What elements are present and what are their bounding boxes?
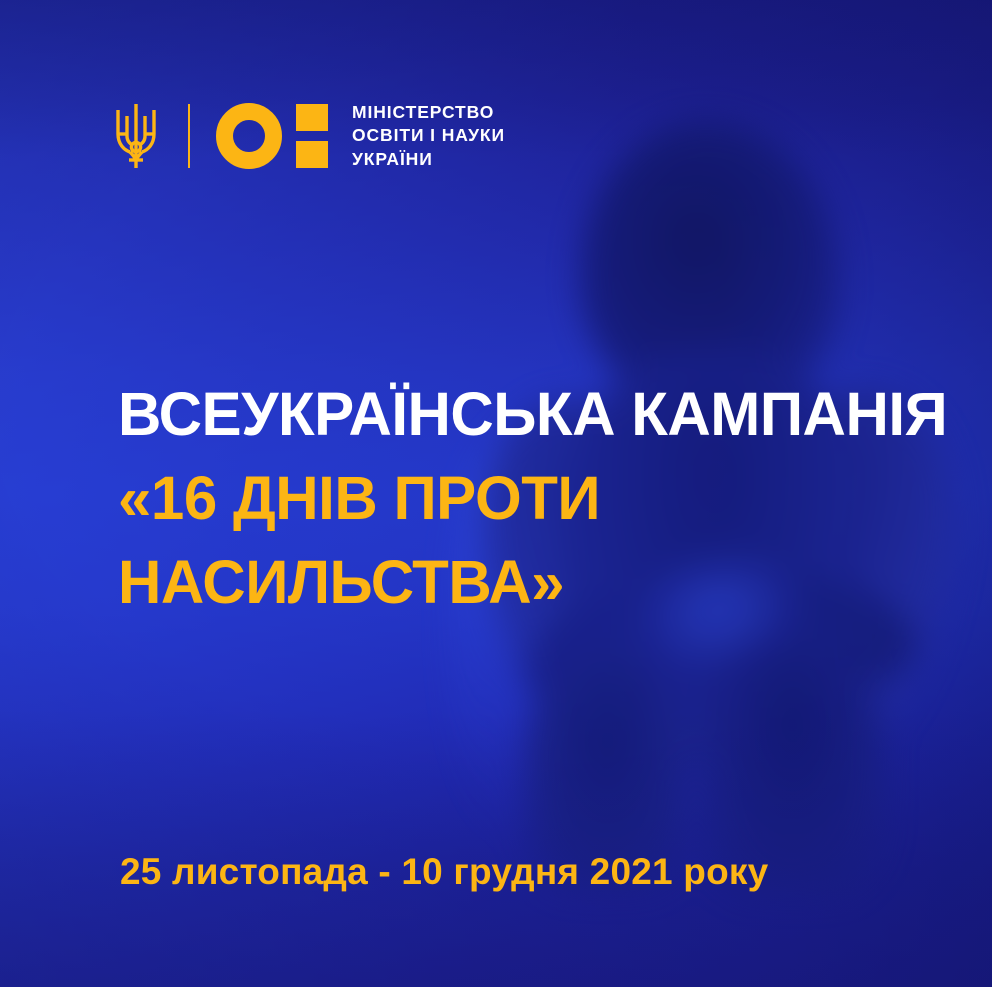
mark-equals-bar-bottom (296, 141, 328, 168)
mark-equals-icon (296, 104, 328, 168)
campaign-headline: ВСЕУКРАЇНСЬКА КАМПАНІЯ «16 ДНІВ ПРОТИ НА… (118, 372, 958, 624)
logo-divider (188, 104, 190, 168)
mon-o-equals-mark (216, 103, 328, 169)
campaign-poster: МІНІСТЕРСТВО ОСВІТИ І НАУКИ УКРАЇНИ ВСЕУ… (0, 0, 992, 987)
ministry-line-1: МІНІСТЕРСТВО (352, 101, 505, 124)
headline-line-3: НАСИЛЬСТВА» (118, 540, 945, 624)
ukraine-trident-icon (110, 100, 162, 172)
poster-content: МІНІСТЕРСТВО ОСВІТИ І НАУКИ УКРАЇНИ ВСЕУ… (0, 0, 992, 987)
ministry-line-3: УКРАЇНИ (352, 148, 505, 171)
mark-equals-bar-top (296, 104, 328, 131)
headline-line-1: ВСЕУКРАЇНСЬКА КАМПАНІЯ (118, 372, 945, 456)
campaign-dates: 25 листопада - 10 грудня 2021 року (120, 851, 768, 893)
headline-line-2: «16 ДНІВ ПРОТИ (118, 456, 945, 540)
ministry-logo-lockup: МІНІСТЕРСТВО ОСВІТИ І НАУКИ УКРАЇНИ (110, 95, 505, 177)
ministry-line-2: ОСВІТИ І НАУКИ (352, 124, 505, 147)
ministry-name: МІНІСТЕРСТВО ОСВІТИ І НАУКИ УКРАЇНИ (352, 101, 505, 170)
mark-ring-o-icon (216, 103, 282, 169)
